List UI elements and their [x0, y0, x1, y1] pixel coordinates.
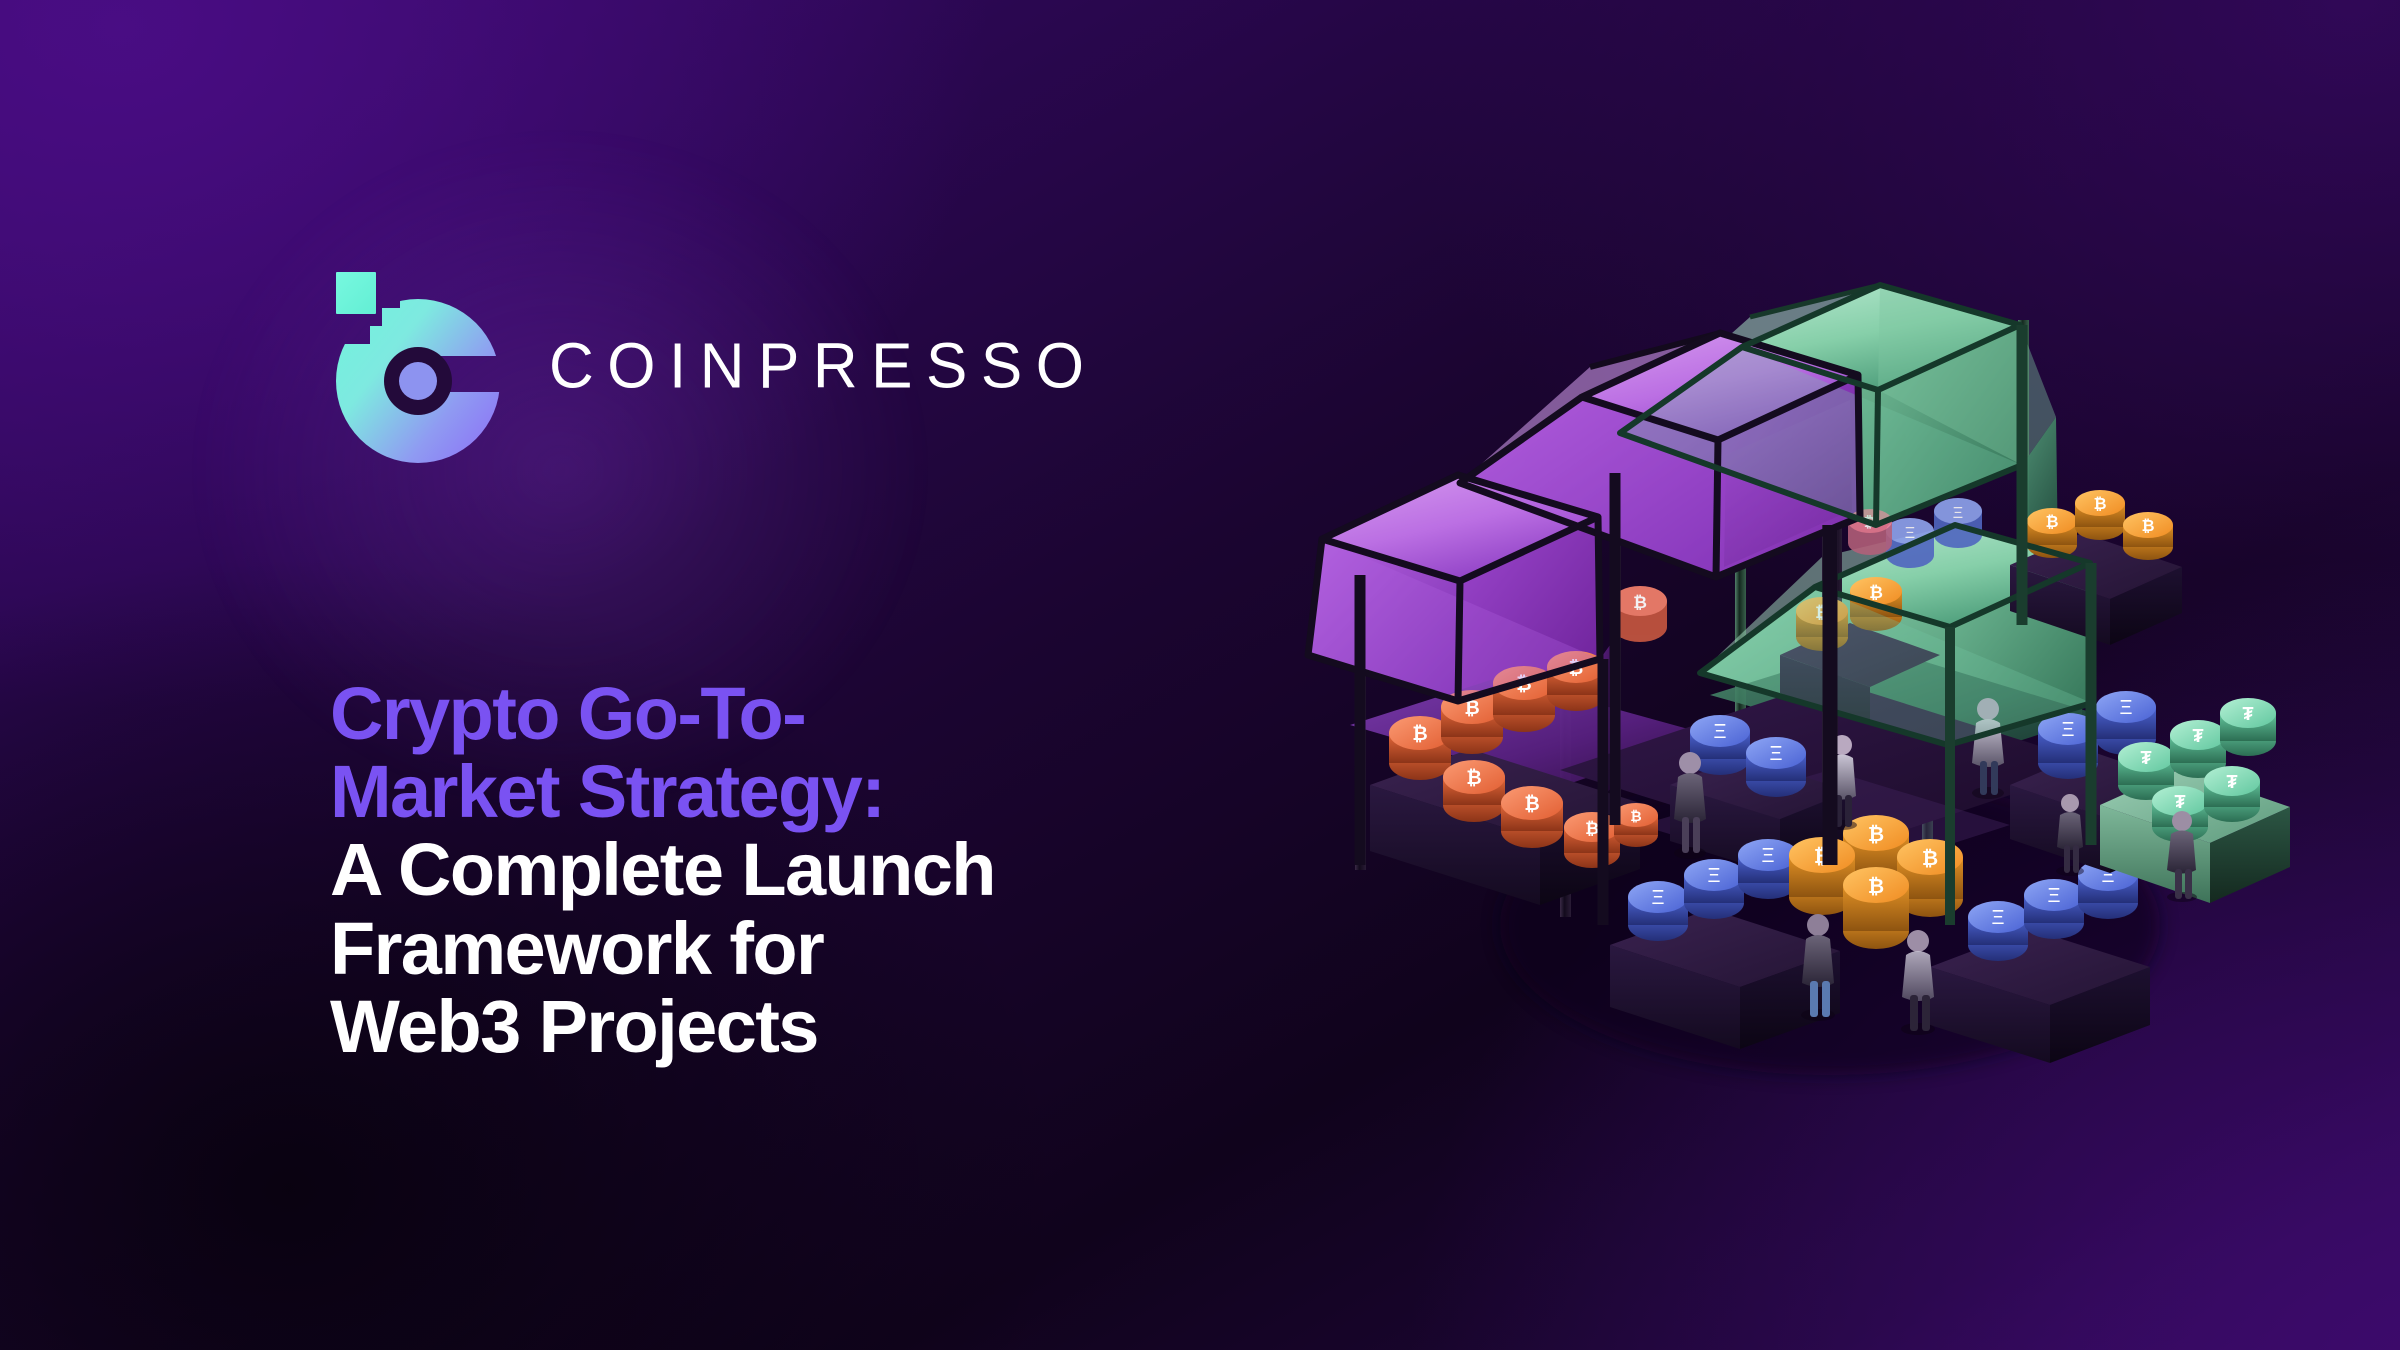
svg-text:₿: ₿: [1868, 824, 1884, 846]
headline-line-2: Market Strategy:: [330, 753, 1150, 831]
headline-line-1: Crypto Go-To-: [330, 675, 1150, 753]
svg-text:Ξ: Ξ: [2062, 719, 2075, 741]
isometric-crypto-marketplace-illustration: ₿ ₿ ₿: [1310, 225, 2370, 1225]
svg-text:₮: ₮: [2227, 772, 2238, 792]
svg-text:Ξ: Ξ: [1652, 887, 1665, 909]
svg-text:Ξ: Ξ: [1905, 525, 1915, 542]
headline-line-3: A Complete Launch: [330, 831, 1150, 909]
svg-text:₮: ₮: [2175, 792, 2186, 812]
svg-text:Ξ: Ξ: [1708, 865, 1721, 887]
svg-text:₿: ₿: [1869, 583, 1883, 602]
svg-text:Ξ: Ξ: [1714, 721, 1727, 743]
hero-banner: ₿ ₿ ₿: [0, 0, 2400, 1350]
svg-text:Ξ: Ξ: [1992, 907, 2005, 929]
svg-text:Ξ: Ξ: [2120, 697, 2133, 719]
svg-text:₿: ₿: [2045, 513, 2058, 531]
svg-text:₿: ₿: [1466, 768, 1481, 789]
svg-text:₮: ₮: [2193, 726, 2204, 746]
svg-text:₿: ₿: [1922, 848, 1938, 870]
brand-wordmark: COINPRESSO: [549, 335, 1097, 399]
coinpresso-c-mark-icon: [330, 268, 505, 466]
svg-text:Ξ: Ξ: [1953, 505, 1963, 522]
svg-text:₿: ₿: [1868, 876, 1884, 898]
svg-text:₿: ₿: [1633, 593, 1647, 612]
svg-text:₿: ₿: [1630, 808, 1641, 824]
page-title: Crypto Go-To- Market Strategy: A Complet…: [330, 675, 1150, 1067]
svg-text:₿: ₿: [1524, 794, 1539, 815]
logo-inner-dot: [399, 362, 437, 400]
svg-text:Ξ: Ξ: [1770, 743, 1783, 765]
svg-text:₿: ₿: [1585, 819, 1599, 838]
svg-text:₿: ₿: [2141, 517, 2154, 535]
brand-logo-lockup[interactable]: COINPRESSO: [330, 268, 1097, 466]
headline-line-4: Framework for: [330, 910, 1150, 988]
svg-text:₿: ₿: [2093, 495, 2106, 513]
svg-text:Ξ: Ξ: [1762, 845, 1775, 867]
hero-content-column: COINPRESSO Crypto Go-To- Market Strategy…: [330, 0, 1330, 1350]
svg-text:₮: ₮: [2243, 704, 2254, 724]
svg-text:₿: ₿: [1412, 724, 1427, 745]
headline-line-5: Web3 Projects: [330, 988, 1150, 1066]
svg-text:Ξ: Ξ: [2048, 885, 2061, 907]
svg-text:₮: ₮: [2141, 748, 2152, 768]
